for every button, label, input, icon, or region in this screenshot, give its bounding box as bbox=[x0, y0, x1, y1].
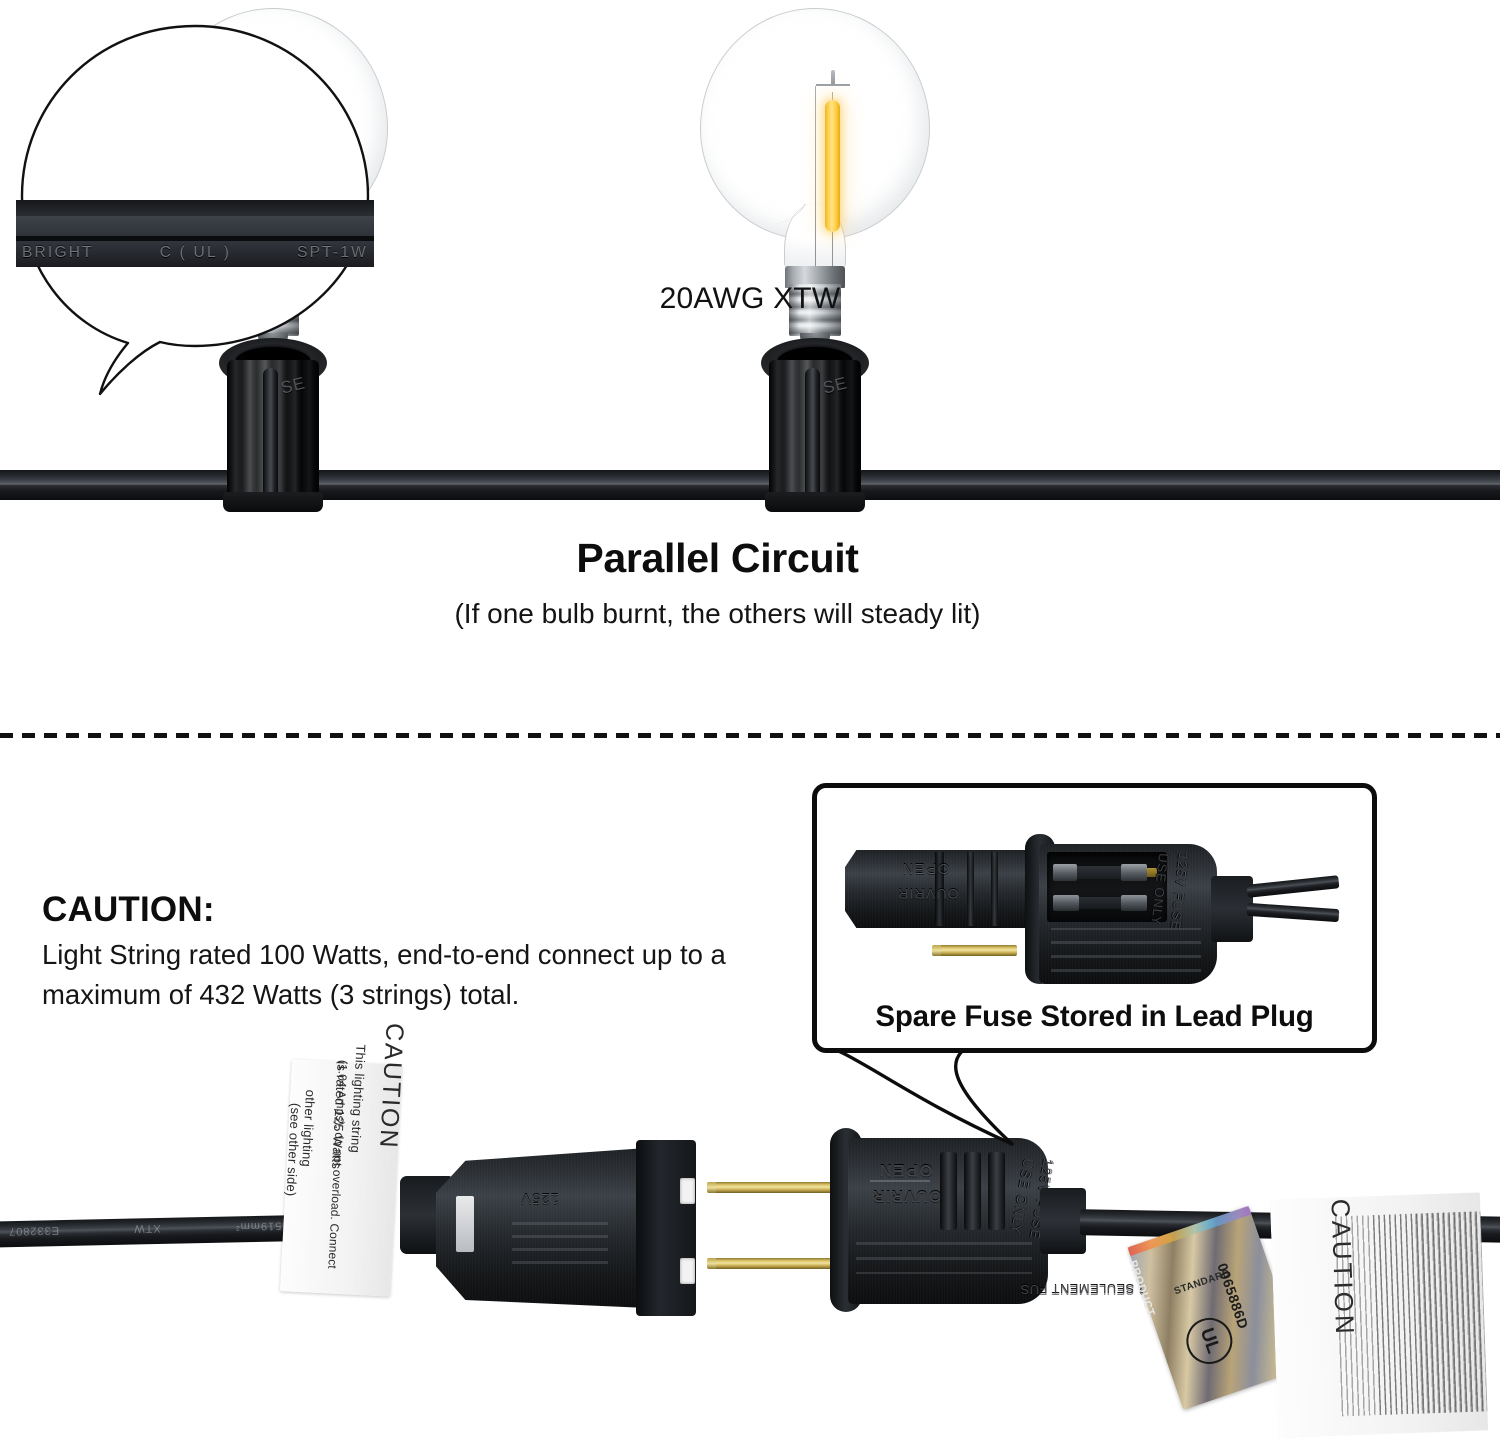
fuse-door-rib bbox=[940, 1152, 957, 1230]
male-emboss-ouvrir: OUVRIR bbox=[872, 1186, 941, 1204]
fuse-door-rib bbox=[988, 1152, 1005, 1230]
lead-plug-fuse-view: OPEN OUVRIR bbox=[839, 802, 1339, 992]
socket-foot bbox=[223, 492, 323, 512]
warning-tag-right: CAUTION bbox=[1270, 1192, 1488, 1437]
caution-heading: CAUTION: bbox=[42, 890, 215, 930]
ul-logo: UL bbox=[1180, 1312, 1238, 1370]
fuse-cartridge bbox=[1053, 892, 1157, 914]
female-face bbox=[636, 1140, 696, 1316]
plug-prong bbox=[939, 945, 1017, 956]
female-connector: 125V bbox=[392, 1118, 742, 1318]
lamp-socket: SE bbox=[761, 338, 869, 510]
wire-marking-type: SPT-1W bbox=[297, 244, 368, 262]
bulb-assembly-right: SE bbox=[700, 8, 950, 528]
wire-marking-cert: C ( UL ) bbox=[160, 244, 231, 262]
led-filament bbox=[825, 100, 840, 232]
section-divider bbox=[0, 733, 1500, 738]
callout-fuse-pointer bbox=[800, 1040, 1040, 1150]
female-slot-lower bbox=[680, 1258, 695, 1284]
male-emboss-open: OPEN bbox=[878, 1160, 933, 1180]
female-highlight bbox=[456, 1196, 474, 1252]
callout-wire-label: 20AWG XTW bbox=[0, 282, 1500, 316]
cord-marking-file: E332807 bbox=[8, 1224, 59, 1237]
plug-emboss-open: OPEN bbox=[901, 860, 950, 877]
female-emboss-rating: 125V bbox=[520, 1190, 559, 1207]
fuse-door-rib bbox=[991, 852, 998, 926]
female-emboss-block bbox=[512, 1216, 608, 1264]
male-emboss-underline bbox=[870, 1180, 930, 1182]
socket-rib bbox=[805, 368, 820, 500]
parallel-circuit-heading: Parallel Circuit bbox=[0, 535, 1435, 582]
warning-tag-left: CAUTION This lighting string is rated 12… bbox=[280, 1059, 402, 1296]
female-slot-upper bbox=[680, 1178, 695, 1204]
wire-marking-brand: BRIGHT bbox=[22, 244, 94, 262]
plug-emboss-french-block bbox=[1051, 928, 1201, 972]
wire-markings: BRIGHT C ( UL ) SPT-1W bbox=[22, 244, 368, 262]
male-emboss-block bbox=[856, 1242, 1032, 1274]
plug-wire-upper bbox=[1247, 875, 1340, 898]
cord-marking-type: XTW bbox=[133, 1222, 161, 1235]
caution-body-text: Light String rated 100 Watts, end-to-end… bbox=[42, 935, 762, 1015]
wire-sample: BRIGHT C ( UL ) SPT-1W bbox=[16, 200, 374, 272]
callout-wire-spec: BRIGHT C ( UL ) SPT-1W 20AWG XTW bbox=[0, 0, 420, 400]
plug-emboss-ouvrir: OUVRIR bbox=[897, 886, 959, 902]
parallel-circuit-subheading: (If one bulb burnt, the others will stea… bbox=[0, 598, 1435, 630]
fuse-door-rib bbox=[967, 852, 974, 926]
fuse-door-rib bbox=[964, 1152, 981, 1230]
plug-wire-lower bbox=[1247, 903, 1340, 922]
callout-spare-fuse: OPEN OUVRIR bbox=[812, 783, 1377, 1053]
filament-support-left bbox=[815, 86, 816, 271]
fuse-cartridge bbox=[1053, 861, 1157, 884]
warning-tag-right-fineprint-c bbox=[1411, 1206, 1488, 1413]
male-prong-lower bbox=[714, 1258, 844, 1269]
male-prong-upper bbox=[714, 1182, 844, 1193]
socket-foot bbox=[765, 492, 865, 512]
filament-crossbar bbox=[816, 84, 850, 86]
callout-fuse-label: Spare Fuse Stored in Lead Plug bbox=[817, 1000, 1372, 1034]
